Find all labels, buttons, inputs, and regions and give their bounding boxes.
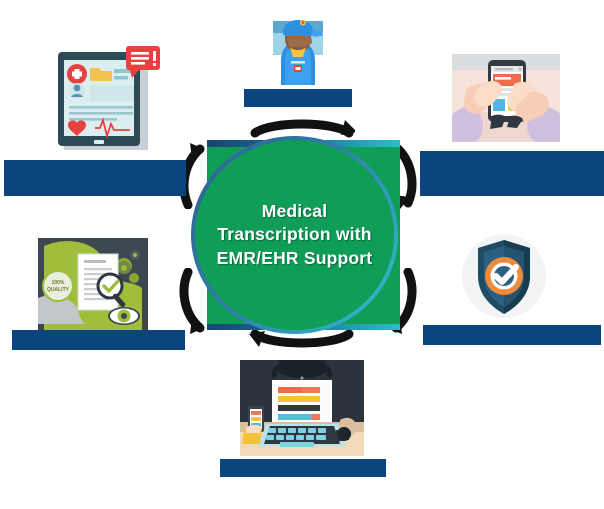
svg-text:QUALITY: QUALITY: [47, 287, 70, 293]
desk-laptop-workspace-icon: [240, 360, 364, 456]
diagram-canvas: 100% QUALITY: [0, 0, 604, 509]
spoke-label-bottom-left[interactable]: [12, 330, 185, 350]
center-circle-fill: Medical Transcription with EMR/EHR Suppo…: [195, 140, 394, 330]
center-hub: Medical Transcription with EMR/EHR Suppo…: [207, 140, 400, 330]
spoke-label-bottom-right[interactable]: [423, 325, 601, 345]
tablet-medical-record-icon: [50, 44, 162, 154]
quality-assurance-document-icon: 100% QUALITY: [38, 238, 148, 332]
spoke-label-bottom[interactable]: [220, 459, 386, 477]
avatar-person-icon: [265, 17, 331, 87]
spoke-label-top-right[interactable]: [420, 151, 604, 196]
center-circle-ring: Medical Transcription with EMR/EHR Suppo…: [191, 136, 398, 334]
spoke-label-top-left[interactable]: [4, 160, 186, 196]
center-title: Medical Transcription with EMR/EHR Suppo…: [217, 200, 373, 269]
spoke-label-top[interactable]: [244, 89, 352, 107]
svg-text:100%: 100%: [52, 280, 65, 286]
hands-smartphone-icon: [452, 54, 560, 142]
security-shield-check-icon: [456, 230, 552, 326]
